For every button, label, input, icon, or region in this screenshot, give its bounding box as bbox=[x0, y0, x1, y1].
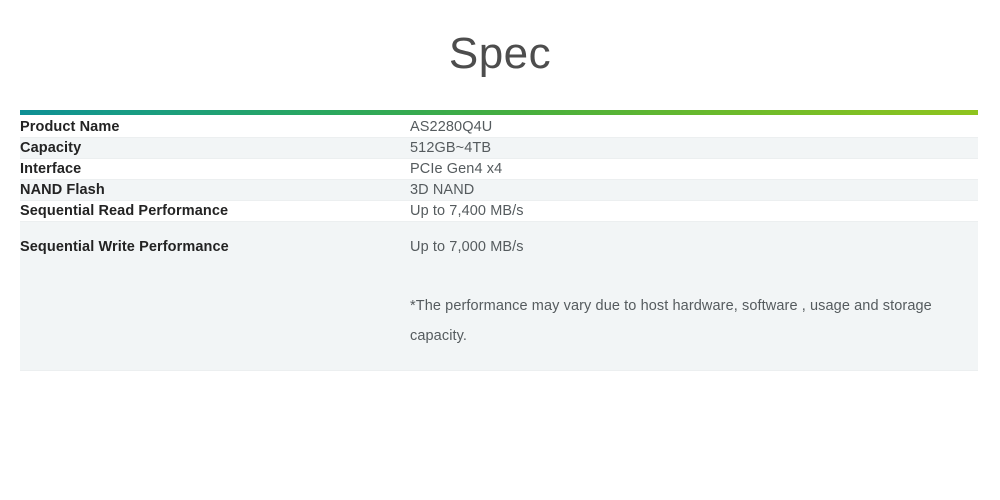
table-row: Sequential Read Performance Up to 7,400 … bbox=[20, 201, 978, 222]
spec-value-cell: Up to 7,000 MB/s *The performance may va… bbox=[410, 222, 978, 371]
table-row: Product Name AS2280Q4U bbox=[20, 117, 978, 138]
spec-value-text: Up to 7,000 MB/s bbox=[410, 237, 978, 257]
spec-value-text: PCIe Gen4 x4 bbox=[410, 159, 978, 179]
spec-value-text: 512GB~4TB bbox=[410, 138, 978, 158]
table-row: NAND Flash 3D NAND bbox=[20, 180, 978, 201]
spec-table-body: Product Name AS2280Q4U Capacity 512GB~4T… bbox=[20, 117, 978, 371]
spec-value-cell: AS2280Q4U bbox=[410, 117, 978, 138]
spec-value-text: Up to 7,400 MB/s bbox=[410, 201, 978, 221]
spec-value-text: 3D NAND bbox=[410, 180, 978, 200]
performance-disclaimer-note: *The performance may vary due to host ha… bbox=[410, 291, 970, 351]
spec-label-cell: NAND Flash bbox=[20, 180, 410, 201]
spec-value-cell: 512GB~4TB bbox=[410, 138, 978, 159]
spec-label-cell: Capacity bbox=[20, 138, 410, 159]
table-row: Sequential Write Performance Up to 7,000… bbox=[20, 222, 978, 371]
spec-label-cell: Product Name bbox=[20, 117, 410, 138]
table-row: Interface PCIe Gen4 x4 bbox=[20, 159, 978, 180]
spec-value-cell: PCIe Gen4 x4 bbox=[410, 159, 978, 180]
spec-value-cell: Up to 7,400 MB/s bbox=[410, 201, 978, 222]
spec-table: Product Name AS2280Q4U Capacity 512GB~4T… bbox=[20, 117, 978, 371]
spec-value-text: AS2280Q4U bbox=[410, 117, 978, 137]
page-title: Spec bbox=[0, 26, 1000, 82]
spec-label-cell: Sequential Read Performance bbox=[20, 201, 410, 222]
spec-page: Spec Product Name AS2280Q4U Capacity 512… bbox=[0, 0, 1000, 500]
spec-label-cell: Sequential Write Performance bbox=[20, 222, 410, 371]
table-row: Capacity 512GB~4TB bbox=[20, 138, 978, 159]
spec-value-cell: 3D NAND bbox=[410, 180, 978, 201]
spec-label-cell: Interface bbox=[20, 159, 410, 180]
accent-gradient-bar bbox=[20, 110, 978, 115]
